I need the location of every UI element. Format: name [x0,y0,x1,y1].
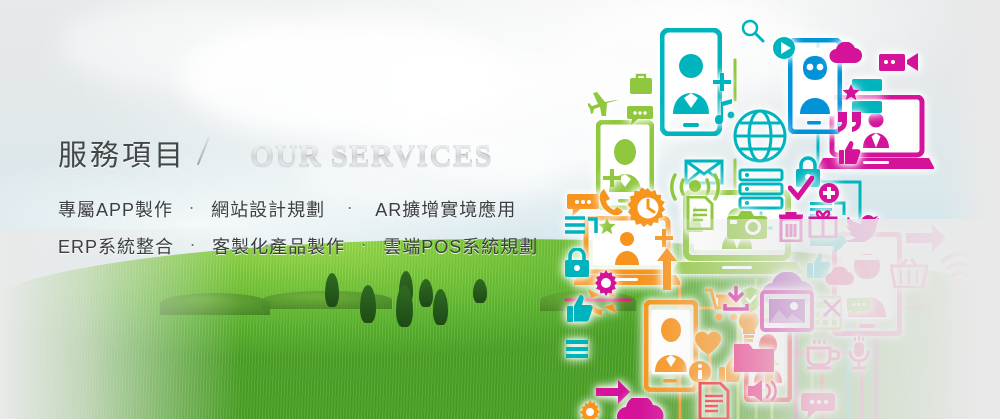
service-separator: ‧ [347,199,353,219]
service-item: 客製化產品製作 [212,233,345,259]
title-separator-slash [202,135,236,165]
services-banner: 服務項目 OUR SERVICES 專屬APP製作 ‧ 網站設計規劃 ‧ AR擴… [0,0,1000,419]
service-list: 專屬APP製作 ‧ 網站設計規劃 ‧ AR擴增實境應用 ERP系統整合 ‧ 客製… [58,196,578,259]
service-separator: ‧ [189,199,195,219]
page-title-english: OUR SERVICES [250,137,493,173]
play-icon [772,36,796,60]
star-icon [842,84,860,102]
gear-icon [592,270,620,298]
quote-icon [836,112,864,132]
thumbs-up-icon [566,294,594,322]
service-row: 專屬APP製作 ‧ 網站設計規劃 ‧ AR擴增實境應用 [58,196,578,222]
phone-handset-icon [598,188,624,216]
grass-right-fade [640,219,1000,419]
service-item: ERP系統整合 [58,233,174,259]
page-title-chinese: 服務項目 [58,132,186,174]
list-icon [566,338,598,360]
service-item: 雲端POS系統規劃 [383,233,538,259]
checkmark-icon [788,176,814,200]
plus-circle-icon [818,182,840,204]
services-copy-block: 服務項目 OUR SERVICES 專屬APP製作 ‧ 網站設計規劃 ‧ AR擴… [58,132,578,270]
plus-icon [712,72,732,92]
service-row: ERP系統整合 ‧ 客製化產品製作 ‧ 雲端POS系統規劃 [58,233,578,259]
search-icon [740,18,766,44]
cloud-shape [60,0,300,90]
video-camera-icon [878,50,920,74]
service-item: 專屬APP製作 [58,196,173,222]
briefcase-icon [628,72,654,96]
service-item: AR擴增實境應用 [375,196,516,222]
service-item: 網站設計規劃 [211,196,325,222]
star-icon [598,218,616,236]
page-title: 服務項目 OUR SERVICES [58,132,578,174]
service-separator: ‧ [190,236,196,256]
gear-icon [578,400,602,419]
thumbs-up-icon [838,140,862,164]
cloud-icon [828,42,864,64]
service-separator: ‧ [361,236,367,256]
plus-icon [602,168,622,188]
globe-icon [732,108,788,164]
chat-bubble-icon [626,104,654,126]
airplane-icon [588,88,618,116]
